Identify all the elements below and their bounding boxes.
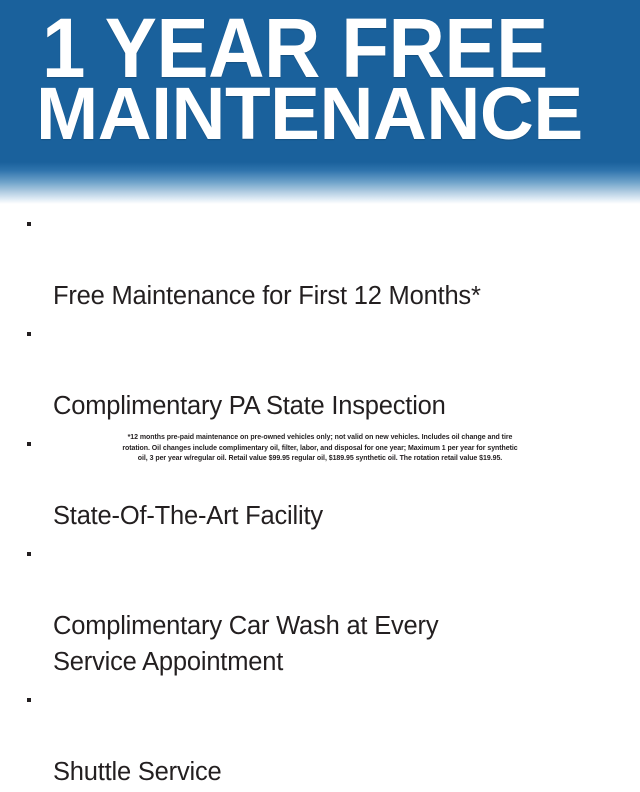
disclaimer-line-1: *12 months pre-paid maintenance on pre-o… bbox=[30, 433, 610, 444]
benefits-list: Free Maintenance for First 12 Months* Co… bbox=[0, 206, 640, 792]
square-bullet-icon bbox=[27, 332, 31, 336]
list-item: Free Maintenance for First 12 Months* bbox=[0, 206, 640, 314]
disclaimer-line-3: oil, 3 per year w/regular oil. Retail va… bbox=[30, 454, 610, 465]
list-item-label: Complimentary PA State Inspection bbox=[53, 392, 446, 420]
promotional-flyer: 1 YEAR FREE MAINTENANCE Free Maintenance… bbox=[0, 0, 640, 480]
square-bullet-icon bbox=[27, 698, 31, 702]
disclaimer-line-2: rotation. Oil changes include compliment… bbox=[30, 444, 610, 455]
list-item: Complimentary PA State Inspection bbox=[0, 316, 640, 424]
header-banner: 1 YEAR FREE MAINTENANCE bbox=[0, 0, 640, 163]
list-item: Shuttle Service bbox=[0, 682, 640, 790]
headline-secondary: MAINTENANCE bbox=[36, 80, 583, 148]
banner-gradient-fade bbox=[0, 162, 640, 204]
list-item-label: Complimentary Car Wash at Every Service … bbox=[53, 612, 438, 676]
square-bullet-icon bbox=[27, 222, 31, 226]
list-item: Complimentary Car Wash at Every Service … bbox=[0, 536, 640, 680]
square-bullet-icon bbox=[27, 552, 31, 556]
disclaimer-fine-print: *12 months pre-paid maintenance on pre-o… bbox=[30, 433, 610, 465]
list-item-label: Free Maintenance for First 12 Months* bbox=[53, 282, 481, 310]
list-item-label: State-Of-The-Art Facility bbox=[53, 502, 323, 530]
list-item-label: Shuttle Service bbox=[53, 758, 222, 786]
